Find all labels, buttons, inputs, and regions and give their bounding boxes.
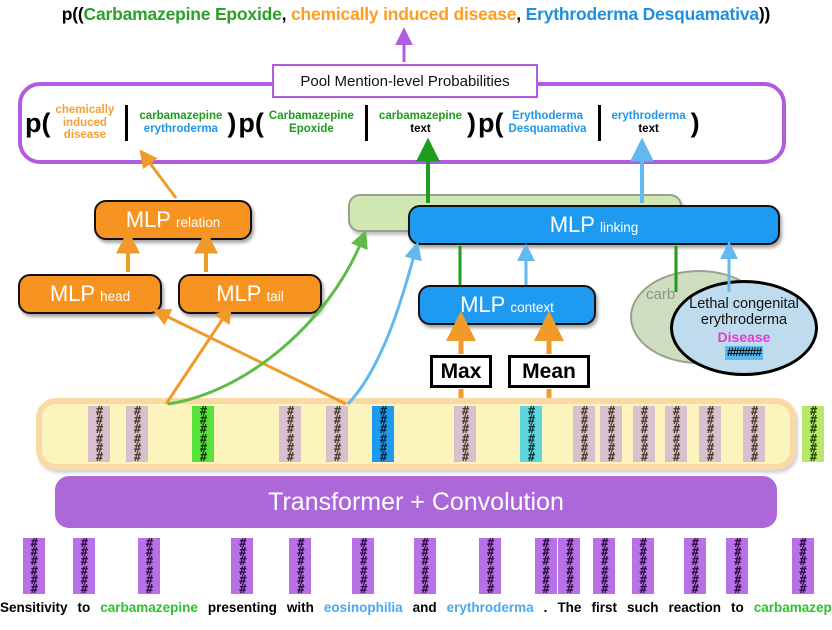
pool-mention-level-probabilities-label: Pool Mention-level Probabilities bbox=[272, 64, 538, 98]
sentence-token: to bbox=[731, 600, 744, 615]
prob-open-paren: p( bbox=[25, 110, 50, 137]
prob-left-line: Epoxide bbox=[289, 123, 334, 136]
sentence-token: with bbox=[287, 600, 314, 615]
input-token-vector: ###### bbox=[138, 538, 160, 594]
sentence-token: such bbox=[627, 600, 659, 615]
prob-left-line: Carbamazepine bbox=[269, 110, 354, 123]
input-token-vector: ###### bbox=[684, 538, 706, 594]
prob-conditional-bar bbox=[365, 105, 368, 141]
sentence-token: carbamazepine bbox=[754, 600, 832, 615]
prob-right-line: text bbox=[638, 123, 658, 136]
sentence-token: presenting bbox=[208, 600, 277, 615]
prob-conditional-bar bbox=[598, 105, 601, 141]
prob-right-operand: carbamazepinetext bbox=[375, 110, 466, 136]
input-token-vector: ###### bbox=[289, 538, 311, 594]
input-sentence: Sensitivitytocarbamazepinepresentingwith… bbox=[0, 600, 832, 615]
prob-open-paren: p( bbox=[238, 110, 263, 137]
prob-close-paren: ) bbox=[691, 110, 700, 137]
prob-right-operand: carbamazepineerythroderma bbox=[135, 110, 226, 136]
prob-right-line: text bbox=[410, 123, 430, 136]
prob-left-line: chemically bbox=[55, 104, 114, 116]
input-token-vector: ###### bbox=[352, 538, 374, 594]
prob-right-line: erythroderma bbox=[612, 110, 686, 123]
prob-right-operand: erythrodermatext bbox=[608, 110, 690, 136]
input-token-vector: ###### bbox=[593, 538, 615, 594]
prob-left-operand: ErythodermaDesquamativa bbox=[505, 110, 591, 136]
sentence-token: eosinophilia bbox=[324, 600, 403, 615]
probability-term-2: p(CarbamazepineEpoxidecarbamazepinetext) bbox=[237, 105, 477, 141]
input-token-vector: ###### bbox=[23, 538, 45, 594]
prob-left-operand: chemicallyinduceddisease bbox=[51, 104, 118, 141]
prob-right-line: carbamazepine bbox=[139, 110, 222, 123]
prob-conditional-bar bbox=[125, 105, 128, 141]
sentence-token: erythroderma bbox=[447, 600, 534, 615]
prob-right-line: erythroderma bbox=[144, 123, 218, 136]
sentence-token: Sensitivity bbox=[0, 600, 68, 615]
sentence-token: and bbox=[413, 600, 437, 615]
sentence-token: to bbox=[78, 600, 91, 615]
input-token-vector: ###### bbox=[792, 538, 814, 594]
sentence-token: first bbox=[591, 600, 617, 615]
prob-left-line: disease bbox=[64, 129, 106, 141]
sentence-token: reaction bbox=[668, 600, 721, 615]
input-token-vector: ###### bbox=[73, 538, 95, 594]
prob-left-line: induced bbox=[63, 117, 107, 129]
input-token-vector: ###### bbox=[558, 538, 580, 594]
prob-close-paren: ) bbox=[227, 110, 236, 137]
sentence-token: carbamazepine bbox=[100, 600, 198, 615]
input-token-vector: ###### bbox=[535, 538, 557, 594]
prob-left-line: Erythoderma bbox=[512, 110, 583, 123]
sentence-token: The bbox=[557, 600, 581, 615]
input-token-vector: ###### bbox=[414, 538, 436, 594]
sentence-token: . bbox=[544, 600, 548, 615]
input-token-vector: ###### bbox=[726, 538, 748, 594]
prob-left-operand: CarbamazepineEpoxide bbox=[265, 110, 358, 136]
probability-term-3: p(ErythodermaDesquamativaerythrodermatex… bbox=[477, 105, 701, 141]
prob-left-line: Desquamativa bbox=[509, 123, 587, 136]
prob-right-line: carbamazepine bbox=[379, 110, 462, 123]
input-token-vector: ###### bbox=[231, 538, 253, 594]
prob-close-paren: ) bbox=[467, 110, 476, 137]
probability-term-1: p(chemicallyinduceddiseasecarbamazepinee… bbox=[24, 104, 237, 141]
input-token-vector: ###### bbox=[479, 538, 501, 594]
input-token-vector: ###### bbox=[632, 538, 654, 594]
prob-open-paren: p( bbox=[478, 110, 503, 137]
